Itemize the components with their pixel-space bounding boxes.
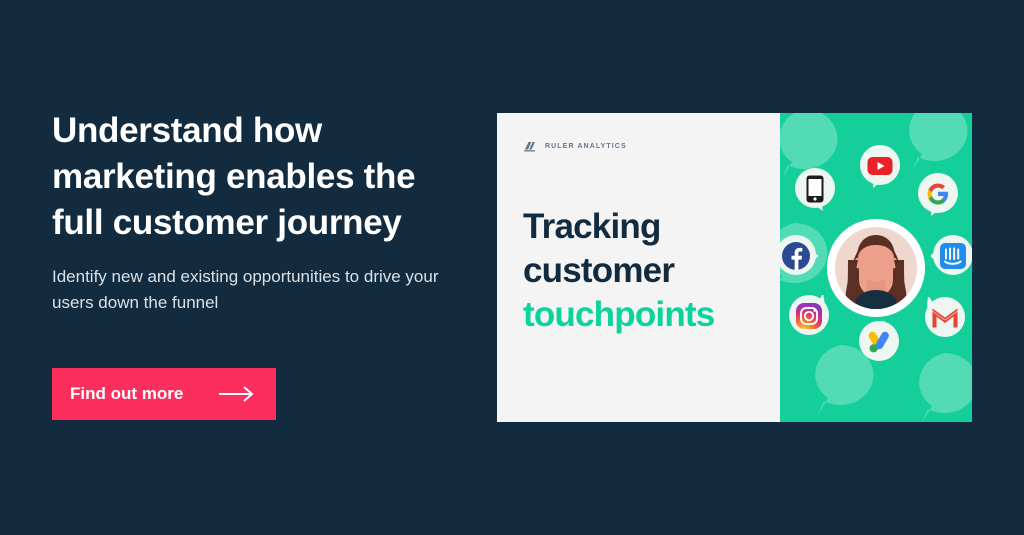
google-g-glyph-icon bbox=[927, 182, 950, 205]
card-title-line1: Tracking bbox=[523, 207, 661, 246]
copy-block: Understand how marketing enables the ful… bbox=[52, 108, 462, 316]
facebook-glyph-icon bbox=[782, 242, 810, 270]
google-ads-icon bbox=[857, 321, 901, 365]
phone-glyph-icon bbox=[807, 175, 824, 202]
find-out-more-button[interactable]: Find out more bbox=[52, 368, 276, 420]
mobile-phone-icon bbox=[793, 168, 837, 212]
google-icon bbox=[916, 173, 960, 217]
instagram-icon bbox=[787, 295, 831, 339]
facebook-icon bbox=[780, 235, 818, 279]
arrow-right-icon bbox=[218, 385, 258, 403]
card-illustration-panel bbox=[780, 113, 972, 422]
instagram-glyph-icon bbox=[796, 303, 822, 329]
promo-banner: Understand how marketing enables the ful… bbox=[0, 0, 1024, 535]
background-bubble-icon bbox=[896, 113, 972, 173]
customer-avatar bbox=[826, 218, 926, 318]
intercom-icon bbox=[931, 235, 972, 279]
ruler-analytics-logo-icon bbox=[523, 141, 539, 152]
page-subtitle: Identify new and existing opportunities … bbox=[52, 246, 462, 316]
card-text-panel: RULER ANALYTICS Tracking customer touchp… bbox=[497, 113, 780, 422]
card-title: Tracking customer touchpoints bbox=[523, 205, 714, 337]
card-title-line3: touchpoints bbox=[523, 295, 714, 334]
brand-name: RULER ANALYTICS bbox=[545, 143, 627, 150]
intercom-glyph-icon bbox=[940, 243, 966, 269]
background-bubble-icon bbox=[906, 351, 972, 422]
ebook-preview-card[interactable]: RULER ANALYTICS Tracking customer touchp… bbox=[497, 113, 972, 422]
gmail-icon bbox=[923, 297, 967, 341]
card-title-line2: customer bbox=[523, 251, 674, 290]
youtube-icon bbox=[858, 145, 902, 189]
gmail-glyph-icon bbox=[932, 307, 959, 328]
youtube-glyph-icon bbox=[868, 157, 893, 175]
brand-lockup: RULER ANALYTICS bbox=[523, 141, 627, 152]
page-title: Understand how marketing enables the ful… bbox=[52, 108, 462, 246]
cta-label: Find out more bbox=[70, 384, 183, 404]
google-ads-glyph-icon bbox=[866, 329, 892, 355]
